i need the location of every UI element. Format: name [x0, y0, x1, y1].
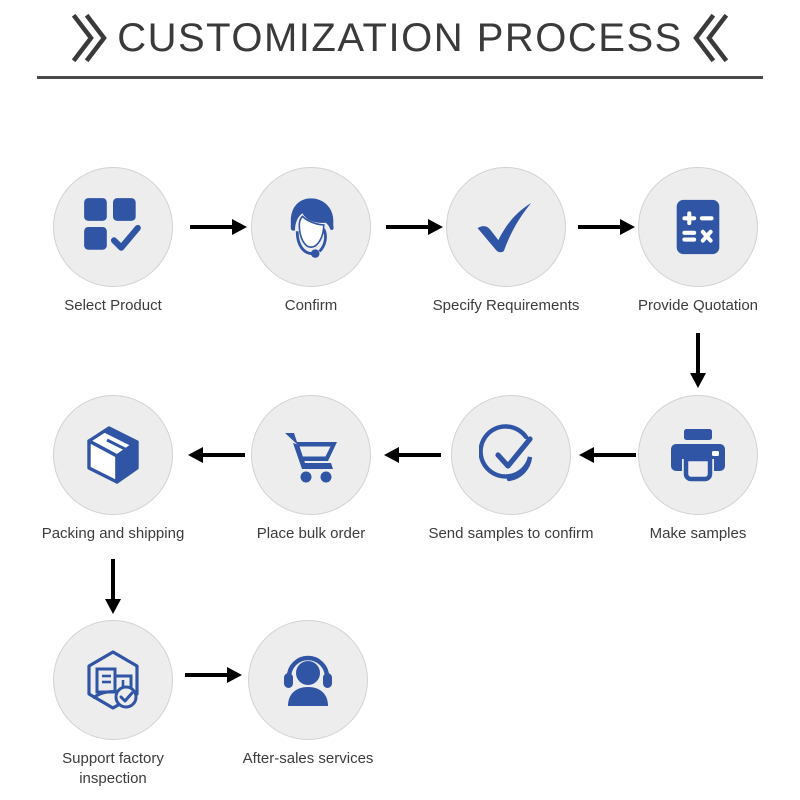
step-icon-circle — [446, 167, 566, 287]
page-title: CUSTOMIZATION PROCESS — [117, 16, 683, 61]
step-label: Provide Quotation — [593, 296, 800, 316]
grid-squares-check-icon — [80, 194, 146, 260]
title-row: CUSTOMIZATION PROCESS — [0, 8, 800, 68]
step-icon-circle — [638, 395, 758, 515]
step-label: Send samples to confirm — [406, 524, 616, 544]
step-icon-circle — [248, 620, 368, 740]
calculator-icon — [667, 196, 729, 258]
step-icon-circle — [451, 395, 571, 515]
title-divider — [37, 76, 763, 79]
step-icon-circle — [251, 167, 371, 287]
diagram-header: CUSTOMIZATION PROCESS — [0, 0, 800, 100]
step-icon-circle — [53, 167, 173, 287]
step-node-specify-requirements[interactable]: Specify Requirements — [401, 167, 611, 316]
step-label: Packing and shipping — [8, 524, 218, 544]
connector-arrow-left — [383, 442, 441, 468]
package-box-icon — [81, 423, 145, 487]
step-node-after-sales-services[interactable]: After-sales services — [203, 620, 413, 769]
connector-arrow-down — [685, 333, 711, 389]
headset-person-icon — [276, 648, 340, 712]
printer-icon — [666, 423, 730, 487]
double-chevron-right-icon — [69, 14, 109, 62]
step-node-packing-and-shipping[interactable]: Packing and shipping — [8, 395, 218, 544]
step-node-support-factory-inspection[interactable]: Support factory inspection — [38, 620, 188, 790]
step-icon-circle — [53, 620, 173, 740]
step-label: After-sales services — [203, 749, 413, 769]
circle-check-icon — [479, 423, 543, 487]
step-label: Confirm — [231, 296, 391, 316]
step-node-confirm[interactable]: Confirm — [231, 167, 391, 316]
connector-arrow-down — [100, 559, 126, 615]
step-icon-circle — [638, 167, 758, 287]
step-node-send-samples-to-confirm[interactable]: Send samples to confirm — [406, 395, 616, 544]
step-node-make-samples[interactable]: Make samples — [623, 395, 773, 544]
support-agent-headset-icon — [277, 193, 345, 261]
step-node-place-bulk-order[interactable]: Place bulk order — [236, 395, 386, 544]
step-label: Place bulk order — [236, 524, 386, 544]
checkmark-icon — [471, 192, 541, 262]
step-node-select-product[interactable]: Select Product — [33, 167, 193, 316]
shopping-cart-icon — [279, 423, 343, 487]
customization-process-diagram: CUSTOMIZATION PROCESS Select Product — [0, 0, 800, 800]
step-label: Make samples — [623, 524, 773, 544]
step-label: Select Product — [33, 296, 193, 316]
factory-inspection-badge-icon — [81, 648, 145, 712]
step-icon-circle — [53, 395, 173, 515]
step-icon-circle — [251, 395, 371, 515]
step-label: Specify Requirements — [401, 296, 611, 316]
step-label: Support factory inspection — [38, 749, 188, 790]
step-node-provide-quotation[interactable]: Provide Quotation — [593, 167, 800, 316]
double-chevron-left-icon — [691, 14, 731, 62]
